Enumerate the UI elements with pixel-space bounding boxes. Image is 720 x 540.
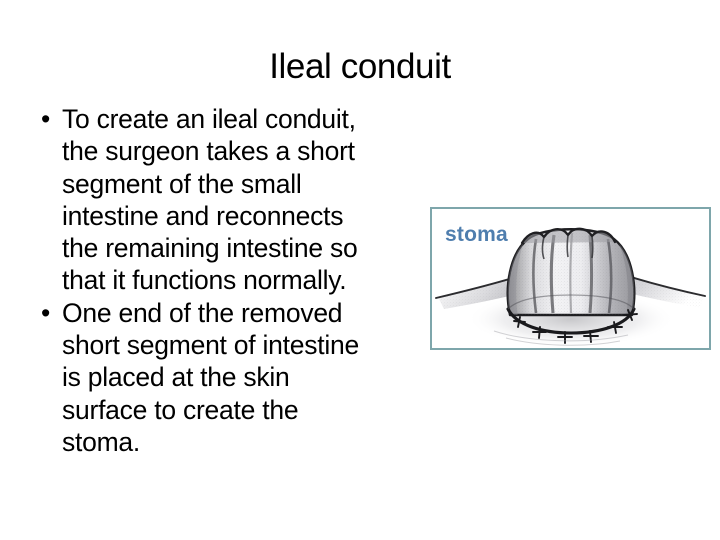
bullet-line: To create an ileal conduit, (62, 103, 430, 135)
stoma-illustration-frame: stoma (430, 207, 711, 350)
bullet-line: the surgeon takes a short (62, 135, 430, 167)
list-item: • One end of the removed short segment o… (30, 297, 430, 458)
bullet-list: • To create an ileal conduit, the surgeo… (30, 103, 430, 458)
bullet-line: intestine and reconnects (62, 200, 430, 232)
bullet-marker-icon: • (41, 103, 50, 135)
bullet-line: surface to create the (62, 394, 430, 426)
bullet-line: short segment of intestine (62, 329, 430, 361)
bullet-line: that it functions normally. (62, 264, 430, 296)
bullet-line: is placed at the skin (62, 361, 430, 393)
page-title: Ileal conduit (0, 46, 720, 88)
bullet-line: stoma. (62, 426, 430, 458)
stoma-label: stoma (445, 223, 508, 247)
bullet-line: segment of the small (62, 168, 430, 200)
slide-canvas: Ileal conduit • To create an ileal condu… (0, 0, 720, 540)
bullet-line: One end of the removed (62, 297, 430, 329)
bullet-line: the remaining intestine so (62, 232, 430, 264)
bullet-marker-icon: • (41, 297, 50, 329)
list-item: • To create an ileal conduit, the surgeo… (30, 103, 430, 297)
